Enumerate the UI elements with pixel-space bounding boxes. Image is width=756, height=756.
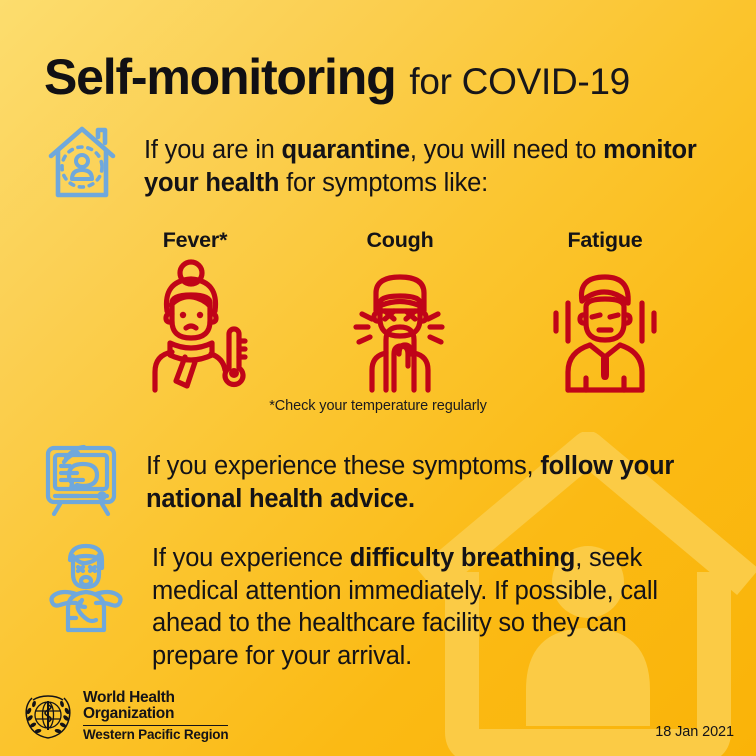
fever-thermometer-icon (141, 259, 249, 394)
block-breathing: If you experience difficulty breathing, … (46, 538, 736, 673)
symptom-label: Fever* (163, 228, 228, 253)
title-sub: for COVID-19 (409, 61, 630, 103)
who-org-line1: World Health (83, 690, 228, 706)
advice-text: If you experience these symptoms, follow… (146, 442, 706, 515)
coughing-person-icon (346, 259, 454, 394)
symptom-cough: Cough (325, 228, 475, 398)
breathing-text: If you experience difficulty breathing, … (152, 538, 687, 673)
who-logo: World Health Organization Western Pacifi… (22, 690, 228, 742)
block-quarantine: If you are in quarantine, you will need … (46, 124, 716, 207)
symptom-fever: Fever* (120, 228, 270, 398)
footnote-text: *Check your temperature regularly (0, 398, 756, 414)
block-advice: If you experience these symptoms, follow… (42, 442, 732, 525)
publication-date: 18 Jan 2021 (655, 724, 734, 740)
title-main: Self-monitoring (44, 48, 395, 106)
who-logo-text: World Health Organization Western Pacifi… (83, 690, 228, 742)
symptom-fatigue: Fatigue (530, 228, 680, 398)
symptom-list: Fever* (120, 228, 680, 398)
symptom-label: Cough (366, 228, 433, 253)
quarantine-text: If you are in quarantine, you will need … (144, 124, 714, 199)
symptom-label: Fatigue (567, 228, 642, 253)
difficulty-breathing-icon (46, 538, 126, 639)
poster-canvas: Self-monitoring for COVID-19 If you ar (0, 0, 756, 756)
tv-news-icon (42, 442, 120, 525)
who-emblem-icon (22, 691, 74, 741)
page-title: Self-monitoring for COVID-19 (44, 48, 630, 106)
house-person-quarantine-icon (46, 124, 118, 207)
fatigue-person-icon (546, 259, 664, 394)
who-region-label: Western Pacific Region (83, 725, 228, 743)
who-org-line2: Organization (83, 706, 228, 722)
